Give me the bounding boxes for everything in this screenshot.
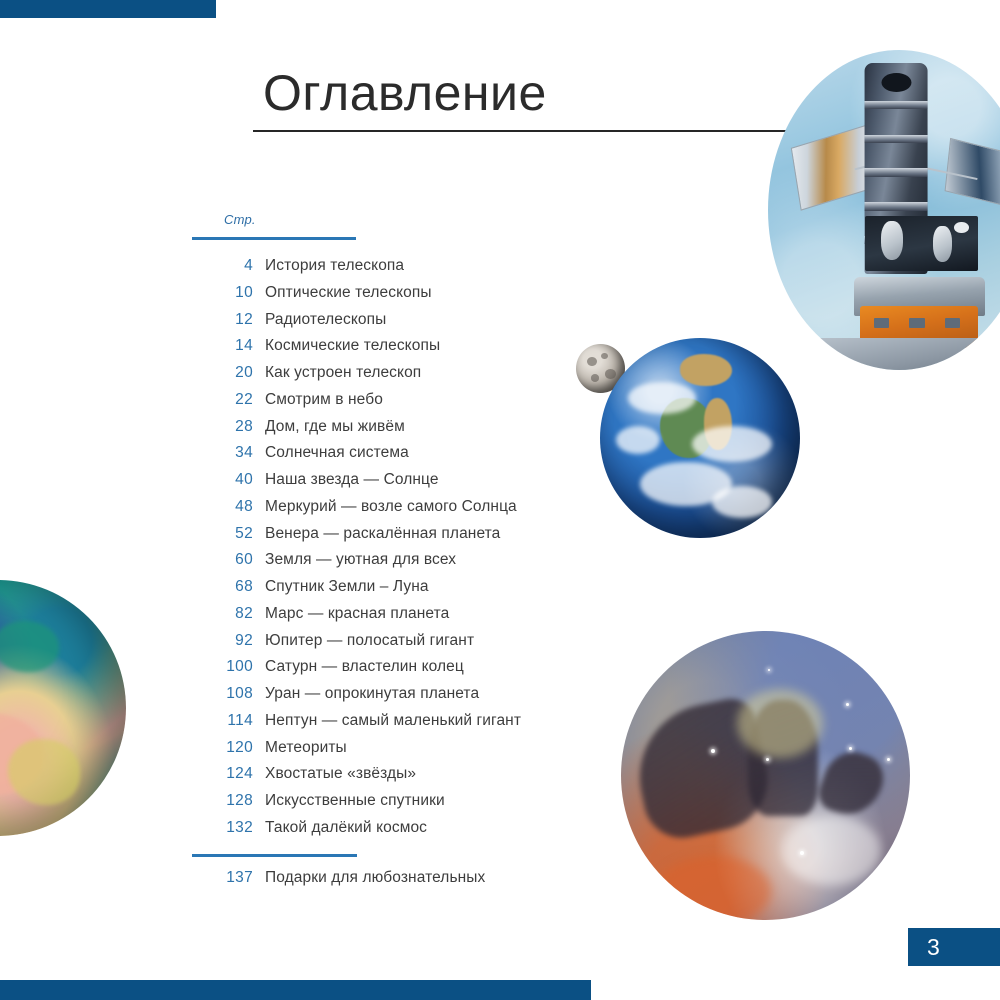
toc-entry-title: Наша звезда — Солнце — [253, 471, 439, 489]
toc-entry-page-number: 92 — [180, 632, 253, 650]
body-ring-1 — [865, 101, 928, 109]
toc-entry[interactable]: 68Спутник Земли – Луна — [180, 578, 600, 605]
earth-planet-photo — [600, 338, 800, 538]
toc-entry[interactable]: 132Такой далёкий космос — [180, 819, 600, 846]
instrument-bay — [865, 216, 978, 270]
toc-entry-page-number: 48 — [180, 498, 253, 516]
toc-entry[interactable]: 48Меркурий — возле самого Солнца — [180, 498, 600, 525]
toc-entry-page-number: 114 — [180, 712, 253, 730]
toc-entry-page-number: 120 — [180, 739, 253, 757]
toc-entry-title: Смотрим в небо — [253, 391, 383, 409]
toc-entry-page-number: 132 — [180, 819, 253, 837]
toc-entry-page-number: 108 — [180, 685, 253, 703]
toc-entry-title: История телескопа — [253, 257, 404, 275]
shuttle-cargo-bay — [820, 338, 1000, 370]
astronaut-figure-1 — [881, 221, 904, 260]
toc-entry[interactable]: 52Венера — раскалённая планета — [180, 525, 600, 552]
payload-detail-1 — [874, 318, 889, 329]
toc-entry-page-number: 4 — [180, 257, 253, 275]
toc-entry-page-number: 12 — [180, 311, 253, 329]
toc-entry[interactable]: 10Оптические телескопы — [180, 284, 600, 311]
toc-entry[interactable]: 92Юпитер — полосатый гигант — [180, 632, 600, 659]
solar-panel-right-icon — [945, 138, 1000, 213]
toc-entry[interactable]: 82Марс — красная планета — [180, 605, 600, 632]
top-accent-bar — [0, 0, 216, 18]
toc-entry[interactable]: 120Метеориты — [180, 739, 600, 766]
toc-entry[interactable]: 108Уран — опрокинутая планета — [180, 685, 600, 712]
toc-entry-page-number: 10 — [180, 284, 253, 302]
page-column-caption: Стр. — [224, 212, 256, 227]
toc-entry-page-number: 60 — [180, 551, 253, 569]
earth-cloud-2 — [692, 426, 772, 462]
toc-entry-page-number: 128 — [180, 792, 253, 810]
toc-entry-title: Искусственные спутники — [253, 792, 445, 810]
toc-entry-page-number: 14 — [180, 337, 253, 355]
toc-entry-title: Нептун — самый маленький гигант — [253, 712, 521, 730]
toc-entry-title: Как устроен телескоп — [253, 364, 421, 382]
toc-entry-title: Меркурий — возле самого Солнца — [253, 498, 517, 516]
toc-entry-title: Такой далёкий космос — [253, 819, 427, 837]
nebula-star-6 — [800, 851, 804, 855]
toc-entry-page-number: 34 — [180, 444, 253, 462]
bay-light — [954, 222, 969, 233]
nebula-glow-core — [783, 816, 881, 885]
moon-crater-2 — [601, 353, 608, 359]
toc-entry-title: Космические телескопы — [253, 337, 440, 355]
toc-entry[interactable]: 137Подарки для любознательных — [180, 869, 660, 896]
toc-entry-title: Подарки для любознательных — [253, 869, 485, 887]
toc-entry[interactable]: 22Смотрим в небо — [180, 391, 600, 418]
payload-detail-2 — [909, 318, 924, 329]
body-ring-2 — [865, 135, 928, 143]
nebula-star-5 — [887, 758, 890, 761]
nebula-star-7 — [768, 669, 770, 671]
page-number-label: 3 — [908, 936, 940, 959]
toc-entry[interactable]: 20Как устроен телескоп — [180, 364, 600, 391]
venus-region-2 — [0, 621, 59, 672]
venus-region-4 — [8, 739, 80, 806]
toc-entry-title: Земля — уютная для всех — [253, 551, 456, 569]
astronaut-figure-2 — [933, 226, 952, 262]
toc-entry-page-number: 28 — [180, 418, 253, 436]
moon-crater-3 — [605, 369, 616, 379]
toc-entry[interactable]: 34Солнечная система — [180, 444, 600, 471]
toc-entry-title: Дом, где мы живём — [253, 418, 405, 436]
toc-entry-page-number: 20 — [180, 364, 253, 382]
payload-detail-3 — [945, 318, 960, 329]
toc-entry[interactable]: 100Сатурн — властелин колец — [180, 658, 600, 685]
body-ring-4 — [865, 202, 928, 210]
toc-entry-title: Солнечная система — [253, 444, 409, 462]
toc-entry-page-number: 22 — [180, 391, 253, 409]
earth-cloud-1 — [628, 382, 696, 414]
earth-cloud-4 — [616, 426, 660, 454]
toc-entry-title: Юпитер — полосатый гигант — [253, 632, 474, 650]
toc-entry-page-number: 52 — [180, 525, 253, 543]
toc-entry[interactable]: 60Земля — уютная для всех — [180, 551, 600, 578]
nebula-glow-rim — [737, 689, 824, 758]
earth-landmass-north — [680, 354, 732, 386]
toc-list: 4История телескопа10Оптические телескопы… — [180, 257, 600, 846]
nebula-glow-warm — [656, 856, 772, 920]
hubble-space-telescope-photo — [768, 50, 1000, 370]
toc-top-divider — [192, 237, 356, 240]
toc-entry-title: Радиотелескопы — [253, 311, 386, 329]
toc-entry[interactable]: 4История телескопа — [180, 257, 600, 284]
page-title: Оглавление — [263, 68, 547, 118]
toc-entry-title: Спутник Земли – Луна — [253, 578, 429, 596]
nebula-star-2 — [766, 758, 769, 761]
toc-entry-page-number: 68 — [180, 578, 253, 596]
toc-entry[interactable]: 114Нептун — самый маленький гигант — [180, 712, 600, 739]
toc-entry[interactable]: 40Наша звезда — Солнце — [180, 471, 600, 498]
nebula-pillar-right — [814, 744, 890, 824]
toc-entry-page-number: 124 — [180, 765, 253, 783]
title-underline — [253, 130, 790, 132]
toc-entry[interactable]: 12Радиотелескопы — [180, 311, 600, 338]
nebula-star-4 — [849, 747, 852, 750]
toc-bottom-divider — [192, 854, 357, 857]
moon-crater-1 — [587, 357, 597, 366]
telescope-aperture-icon — [881, 73, 911, 92]
toc-entry-page-number: 40 — [180, 471, 253, 489]
toc-entry-title: Марс — красная планета — [253, 605, 449, 623]
page-number-badge: 3 — [908, 928, 1000, 966]
toc-entry[interactable]: 14Космические телескопы — [180, 337, 600, 364]
toc-page: Оглавление Стр. 4История телескопа10Опти… — [0, 0, 1000, 1000]
toc-entry-page-number: 82 — [180, 605, 253, 623]
earth-cloud-5 — [712, 486, 772, 518]
toc-entry[interactable]: 124Хвостатые «звёзды» — [180, 765, 600, 792]
body-ring-3 — [865, 168, 928, 176]
toc-entry-page-number: 137 — [180, 869, 253, 887]
toc-entry-title: Метеориты — [253, 739, 347, 757]
bottom-accent-bar — [0, 980, 591, 1000]
toc-entry[interactable]: 28Дом, где мы живём — [180, 418, 600, 445]
toc-entry-title: Венера — раскалённая планета — [253, 525, 500, 543]
toc-entry[interactable]: 128Искусственные спутники — [180, 792, 600, 819]
nebula-star-3 — [846, 703, 849, 706]
toc-entry-title: Оптические телескопы — [253, 284, 432, 302]
toc-entry-title: Хвостатые «звёзды» — [253, 765, 416, 783]
toc-entry-title: Сатурн — властелин колец — [253, 658, 464, 676]
toc-entry-title: Уран — опрокинутая планета — [253, 685, 479, 703]
venus-radar-map-photo — [0, 580, 126, 836]
carina-nebula-photo — [621, 631, 910, 920]
moon-crater-4 — [591, 374, 599, 381]
toc-extra-list: 137Подарки для любознательных — [180, 869, 660, 896]
toc-entry-page-number: 100 — [180, 658, 253, 676]
